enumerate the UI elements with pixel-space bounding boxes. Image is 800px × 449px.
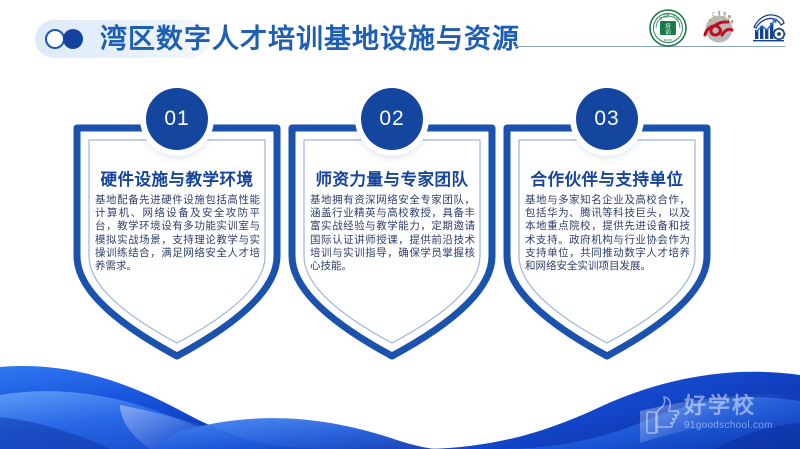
card-body-text: 基地配备先进硬件设施包括高性能计算机、网络设备及安全攻防平台，教学环境设有多功能… (95, 194, 260, 273)
card-number-badge: 02 (361, 88, 423, 150)
card-heading: 合作伙伴与支持单位 (497, 166, 717, 190)
card-heading: 硬件设施与教学环境 (67, 166, 287, 190)
shield-card-01[interactable]: 01 硬件设施与教学环境 基地配备先进硬件设施包括高性能计算机、网络设备及安全攻… (67, 88, 287, 363)
dot-solid-icon (63, 29, 83, 49)
red-ampersand-logo: 广东省 教育 (698, 8, 738, 48)
card-body-text: 基地与多家知名企业及高校合作，包括华为、腾讯等科技巨头，以及本地重点院校，提供先… (525, 194, 690, 273)
svg-text:育: 育 (731, 19, 734, 24)
card-number-badge: 03 (576, 88, 638, 150)
slide-header: 湾区数字人才培训基地设施与资源 培 训 湾区 数 字校 (0, 0, 800, 78)
svg-text:训: 训 (665, 28, 670, 36)
dot-ring-icon (45, 29, 65, 49)
card-heading: 师资力量与专家团队 (282, 166, 502, 190)
card-body-text: 基地拥有资深网络安全专家团队，涵盖行业精英与高校教授，具备丰富实战经验与教学能力… (310, 194, 475, 273)
page-title: 湾区数字人才培训基地设施与资源 (100, 22, 520, 56)
logo-group: 培 训 湾区 数 字校 BASE (648, 8, 788, 48)
shield-card-group: 01 硬件设施与教学环境 基地配备先进硬件设施包括高性能计算机、网络设备及安全攻… (0, 88, 800, 363)
svg-text:东: 东 (718, 10, 721, 15)
svg-text:培: 培 (665, 22, 671, 30)
shield-card-03[interactable]: 03 合作伙伴与支持单位 基地与多家知名企业及高校合作，包括华为、腾讯等科技巨头… (497, 88, 717, 363)
svg-text:BASE: BASE (664, 38, 672, 42)
svg-text:教: 教 (728, 14, 732, 19)
toggle-dots-icon (45, 29, 83, 49)
card-number-badge: 01 (146, 88, 208, 150)
svg-text:广: 广 (712, 11, 715, 16)
shield-card-02[interactable]: 02 师资力量与专家团队 基地拥有资深网络安全专家团队，涵盖行业精英与高校教授，… (282, 88, 502, 363)
green-seal-logo: 培 训 湾区 数 字校 BASE (648, 8, 688, 48)
svg-text:省: 省 (723, 11, 727, 16)
bottom-wave-decoration (0, 339, 800, 449)
blue-chart-gear-logo (748, 8, 788, 48)
slide-root: 湾区数字人才培训基地设施与资源 培 训 湾区 数 字校 (0, 0, 800, 449)
